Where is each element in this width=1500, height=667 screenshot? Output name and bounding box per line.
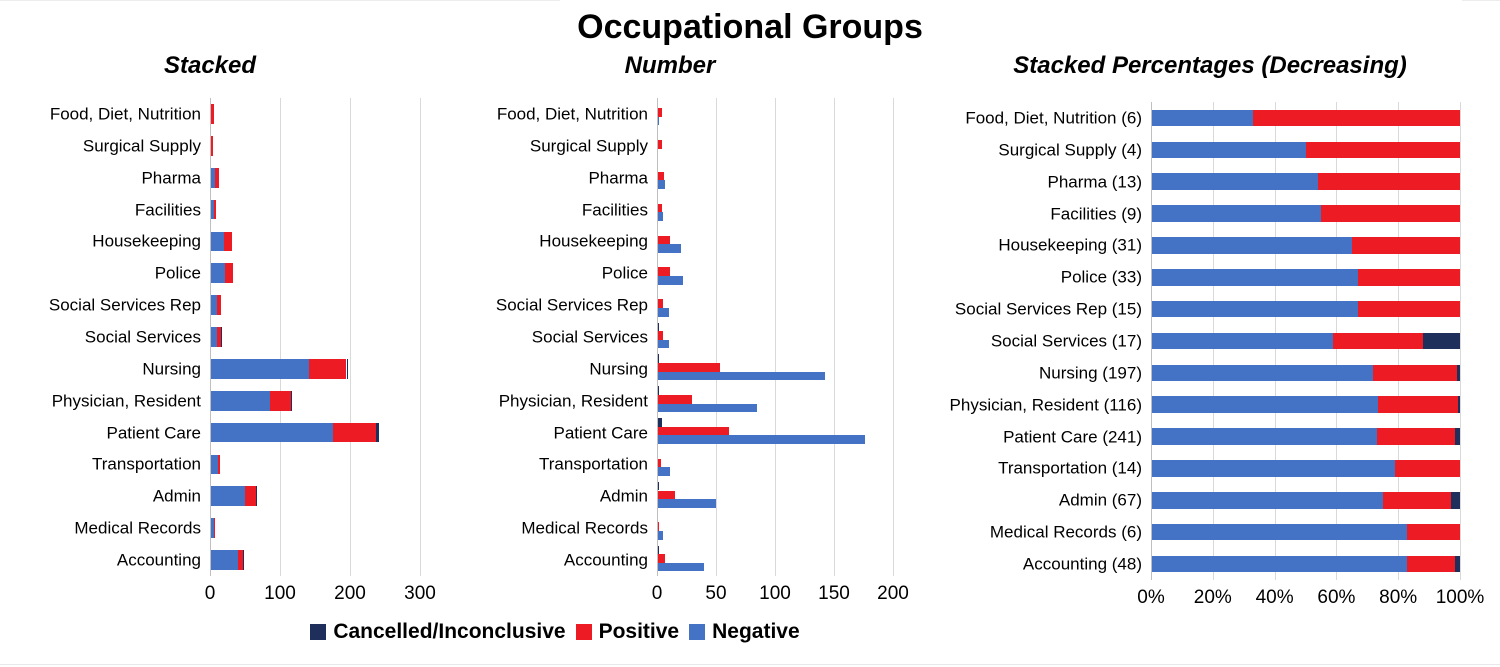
bar-segment-positive [270,391,291,411]
bar-segment-negative [657,180,665,189]
chart-category-row: Police [210,257,420,289]
chart-category-row: Food, Diet, Nutrition [657,98,893,130]
bar-segment-positive [1378,396,1458,413]
panel-number: Number 050100150200Food, Diet, Nutrition… [420,0,920,612]
chart-category-row: Pharma (13) [1151,166,1460,198]
bar-segment-cancelled [1423,333,1460,350]
x-axis-tick-label: 200 [877,583,909,605]
bar-segment-positive [1358,301,1460,318]
chart-category-row: Social Services [657,321,893,353]
gridline [893,98,894,576]
category-label: Housekeeping [92,233,210,250]
category-label: Social Services [85,328,210,345]
category-label: Physician, Resident [52,392,210,409]
bar-segment-negative [210,486,245,506]
category-label: Social Services Rep [496,297,657,314]
chart-category-row: Admin [210,480,420,512]
panel-stacked: Stacked 0100200300Food, Diet, NutritionS… [0,0,420,612]
chart-category-row: Facilities [657,194,893,226]
category-label: Pharma [588,169,657,186]
bar-segment-negative [210,550,238,570]
bar-segment-positive [1407,524,1460,541]
legend-item-cancelled[interactable]: Cancelled/Inconclusive [310,620,565,644]
chart-category-row: Transportation [657,449,893,481]
chart-category-row: Police [657,257,893,289]
bar-segment-negative [1151,142,1306,159]
y-axis-line [657,98,658,576]
chart-category-row: Housekeeping [210,225,420,257]
category-label: Patient Care (241) [1003,428,1151,445]
bar-segment-negative [1151,237,1352,254]
chart-category-row: Medical Records [657,512,893,544]
x-axis-tick-label: 60% [1317,587,1355,609]
bar-segment-cancelled [1457,365,1460,382]
bar-segment-cancelled [1455,428,1460,445]
category-label: Pharma (13) [1048,173,1151,190]
y-axis-line [1151,102,1152,580]
bar-segment-positive [657,554,665,563]
category-label: Housekeeping [539,233,657,250]
chart-category-row: Police (33) [1151,261,1460,293]
chart-category-row: Food, Diet, Nutrition (6) [1151,102,1460,134]
bar-segment-positive [657,491,675,500]
chart-category-row: Nursing (197) [1151,357,1460,389]
x-axis-tick-label: 20% [1194,587,1232,609]
chart-category-row: Admin [657,480,893,512]
category-label: Patient Care [107,424,211,441]
plot-area-stacked: 0100200300Food, Diet, NutritionSurgical … [210,98,420,576]
category-label: Food, Diet, Nutrition (6) [965,109,1151,126]
category-label: Accounting [564,552,657,569]
bar-segment-negative [657,435,865,444]
bar-segment-positive [657,363,720,372]
bar-segment-positive [1383,492,1451,509]
chart-category-row: Facilities [210,194,420,226]
bar-segment-positive [1306,142,1461,159]
bar-segment-negative [657,372,825,381]
category-label: Housekeeping (31) [998,237,1151,254]
bar-segment-positive [657,236,670,245]
chart-category-row: Social Services [210,321,420,353]
bar-segment-negative [1151,110,1253,127]
category-label: Accounting [117,552,210,569]
chart-category-row: Transportation [210,449,420,481]
bar-segment-negative [1151,173,1318,190]
x-axis-tick-label: 80% [1379,587,1417,609]
bar-segment-negative [210,327,217,347]
plot-area-number: 050100150200Food, Diet, NutritionSurgica… [657,98,893,576]
chart-figure: Occupational Groups Stacked 0100200300Fo… [0,0,1500,667]
legend-label: Cancelled/Inconclusive [333,620,565,644]
bar-segment-positive [211,104,214,124]
bar-segment-negative [210,391,270,411]
category-label: Medical Records [74,520,210,537]
bar-segment-positive [1373,365,1456,382]
bar-segment-negative [657,340,669,349]
category-label: Nursing [142,360,210,377]
chart-category-row: Social Services Rep [657,289,893,321]
chart-category-row: Admin (67) [1151,484,1460,516]
chart-category-row: Physician, Resident [210,385,420,417]
bar-segment-positive [1377,428,1456,445]
category-label: Social Services [532,328,657,345]
bar-segment-positive [1407,556,1455,573]
chart-category-row: Physician, Resident (116) [1151,389,1460,421]
category-label: Police (33) [1061,269,1151,286]
category-label: Transportation [92,456,210,473]
chart-category-row: Medical Records (6) [1151,516,1460,548]
chart-category-row: Social Services Rep (15) [1151,293,1460,325]
bar-segment-negative [210,232,224,252]
legend-label: Positive [599,620,680,644]
bar-segment-negative [210,423,333,443]
bar-segment-negative [1151,205,1321,222]
bar-segment-positive [214,518,216,538]
legend-swatch-icon [689,624,705,640]
plot-area-stacked-pct: 0%20%40%60%80%100%Food, Diet, Nutrition … [1151,102,1460,580]
bar-segment-positive [1333,333,1423,350]
chart-category-row: Patient Care [657,417,893,449]
bar-segment-positive [1253,110,1460,127]
bar-segment-negative [210,263,225,283]
category-label: Admin [600,488,657,505]
x-axis-tick-label: 0 [205,583,216,605]
bar-segment-positive [1318,173,1460,190]
chart-category-row: Surgical Supply (4) [1151,134,1460,166]
legend-label: Negative [712,620,800,644]
category-label: Admin [153,488,210,505]
chart-category-row: Patient Care [210,417,420,449]
chart-category-row: Accounting (48) [1151,548,1460,580]
category-label: Social Services Rep (15) [955,301,1151,318]
bar-segment-cancelled [291,391,293,411]
category-label: Medical Records [521,520,657,537]
chart-category-row: Pharma [210,162,420,194]
bar-segment-positive [245,486,256,506]
bar-segment-positive [215,168,219,188]
bar-segment-cancelled [1458,396,1460,413]
bar-segment-negative [1151,524,1407,541]
category-label: Facilities [582,201,657,218]
category-label: Social Services (17) [991,332,1151,349]
chart-category-row: Medical Records [210,512,420,544]
bar-segment-negative [657,244,681,253]
bar-segment-positive [218,455,220,475]
bar-segment-positive [657,267,670,276]
category-label: Facilities (9) [1050,205,1151,222]
bar-segment-cancelled [221,327,223,347]
chart-category-row: Social Services (17) [1151,325,1460,357]
bar-segment-cancelled [1455,556,1460,573]
category-label: Pharma [141,169,210,186]
category-label: Food, Diet, Nutrition [497,105,657,122]
bar-segment-negative [1151,428,1377,445]
category-label: Social Services Rep [49,297,210,314]
x-axis-tick-label: 40% [1256,587,1294,609]
x-axis-tick-label: 50 [705,583,726,605]
bar-segment-negative [1151,301,1358,318]
bar-segment-negative [657,276,683,285]
x-axis-tick-label: 0 [652,583,663,605]
x-axis-tick-label: 0% [1137,587,1164,609]
category-label: Patient Care [554,424,658,441]
bar-segment-positive [657,427,729,436]
bar-segment-positive [657,395,692,404]
y-axis-line [210,98,211,576]
legend: Cancelled/InconclusivePositiveNegative [0,620,1110,644]
chart-category-row: Patient Care (241) [1151,421,1460,453]
category-label: Nursing (197) [1039,364,1151,381]
category-label: Surgical Supply (4) [998,141,1151,158]
bar-segment-negative [1151,365,1373,382]
bar-segment-cancelled [1451,492,1460,509]
chart-category-row: Accounting [657,544,893,576]
chart-category-row: Social Services Rep [210,289,420,321]
category-label: Accounting (48) [1023,556,1151,573]
category-label: Surgical Supply [530,137,657,154]
category-label: Police [155,265,210,282]
chart-category-row: Physician, Resident [657,385,893,417]
category-label: Physician, Resident (116) [950,396,1151,413]
category-label: Admin (67) [1059,492,1151,509]
bar-segment-positive [333,423,376,443]
bar-segment-negative [657,308,669,317]
chart-category-row: Nursing [210,353,420,385]
bar-segment-positive [1352,237,1460,254]
bar-segment-positive [217,295,221,315]
category-label: Medical Records (6) [990,524,1151,541]
bar-segment-cancelled [256,486,258,506]
category-label: Transportation [539,456,657,473]
legend-swatch-icon [310,624,326,640]
chart-category-row: Housekeeping [657,225,893,257]
legend-swatch-icon [576,624,592,640]
category-label: Facilities [135,201,210,218]
category-label: Police [602,265,657,282]
panel-stacked-percentages: Stacked Percentages (Decreasing) 0%20%40… [920,0,1500,612]
bar-segment-negative [1151,492,1383,509]
chart-category-row: Surgical Supply [657,130,893,162]
bottom-divider [0,664,1500,665]
bar-segment-cancelled [376,423,379,443]
chart-category-row: Food, Diet, Nutrition [210,98,420,130]
x-axis-tick-label: 200 [334,583,366,605]
chart-category-row: Pharma [657,162,893,194]
chart-category-row: Accounting [210,544,420,576]
bar-segment-negative [1151,460,1395,477]
bar-segment-positive [224,232,232,252]
panel-stacked-pct-title: Stacked Percentages (Decreasing) [920,52,1500,80]
chart-category-row: Housekeeping (31) [1151,229,1460,261]
bar-segment-negative [1151,333,1333,350]
bar-segment-positive [1321,205,1460,222]
legend-item-negative[interactable]: Negative [689,620,800,644]
category-label: Transportation (14) [998,460,1151,477]
bar-segment-positive [1395,460,1460,477]
bar-segment-negative [210,359,309,379]
bar-segment-positive [309,359,346,379]
bar-segment-negative [657,467,670,476]
chart-category-row: Surgical Supply [210,130,420,162]
legend-item-positive[interactable]: Positive [576,620,680,644]
gridline [1460,102,1461,580]
bar-segment-cancelled [347,359,349,379]
bar-segment-negative [210,455,218,475]
bar-segment-positive [657,172,664,181]
bar-segment-cancelled [243,550,245,570]
panel-number-title: Number [420,52,920,80]
category-label: Nursing [589,360,657,377]
chart-category-row: Transportation (14) [1151,453,1460,485]
panel-stacked-title: Stacked [0,52,420,80]
bar-segment-negative [1151,269,1358,286]
x-axis-tick-label: 100 [264,583,296,605]
x-axis-tick-label: 150 [818,583,850,605]
category-label: Surgical Supply [83,137,210,154]
bar-segment-negative [1151,556,1407,573]
bar-segment-negative [657,499,716,508]
x-axis-tick-label: 100 [759,583,791,605]
bar-segment-positive [214,200,217,220]
bar-segment-negative [657,563,704,572]
bar-segment-negative [210,295,217,315]
x-axis-tick-label: 100% [1436,587,1485,609]
bar-segment-negative [657,404,757,413]
chart-category-row: Nursing [657,353,893,385]
category-label: Physician, Resident [499,392,657,409]
bar-segment-positive [1358,269,1460,286]
category-label: Food, Diet, Nutrition [50,105,210,122]
bar-segment-positive [225,263,233,283]
chart-category-row: Facilities (9) [1151,198,1460,230]
bar-segment-negative [1151,396,1378,413]
